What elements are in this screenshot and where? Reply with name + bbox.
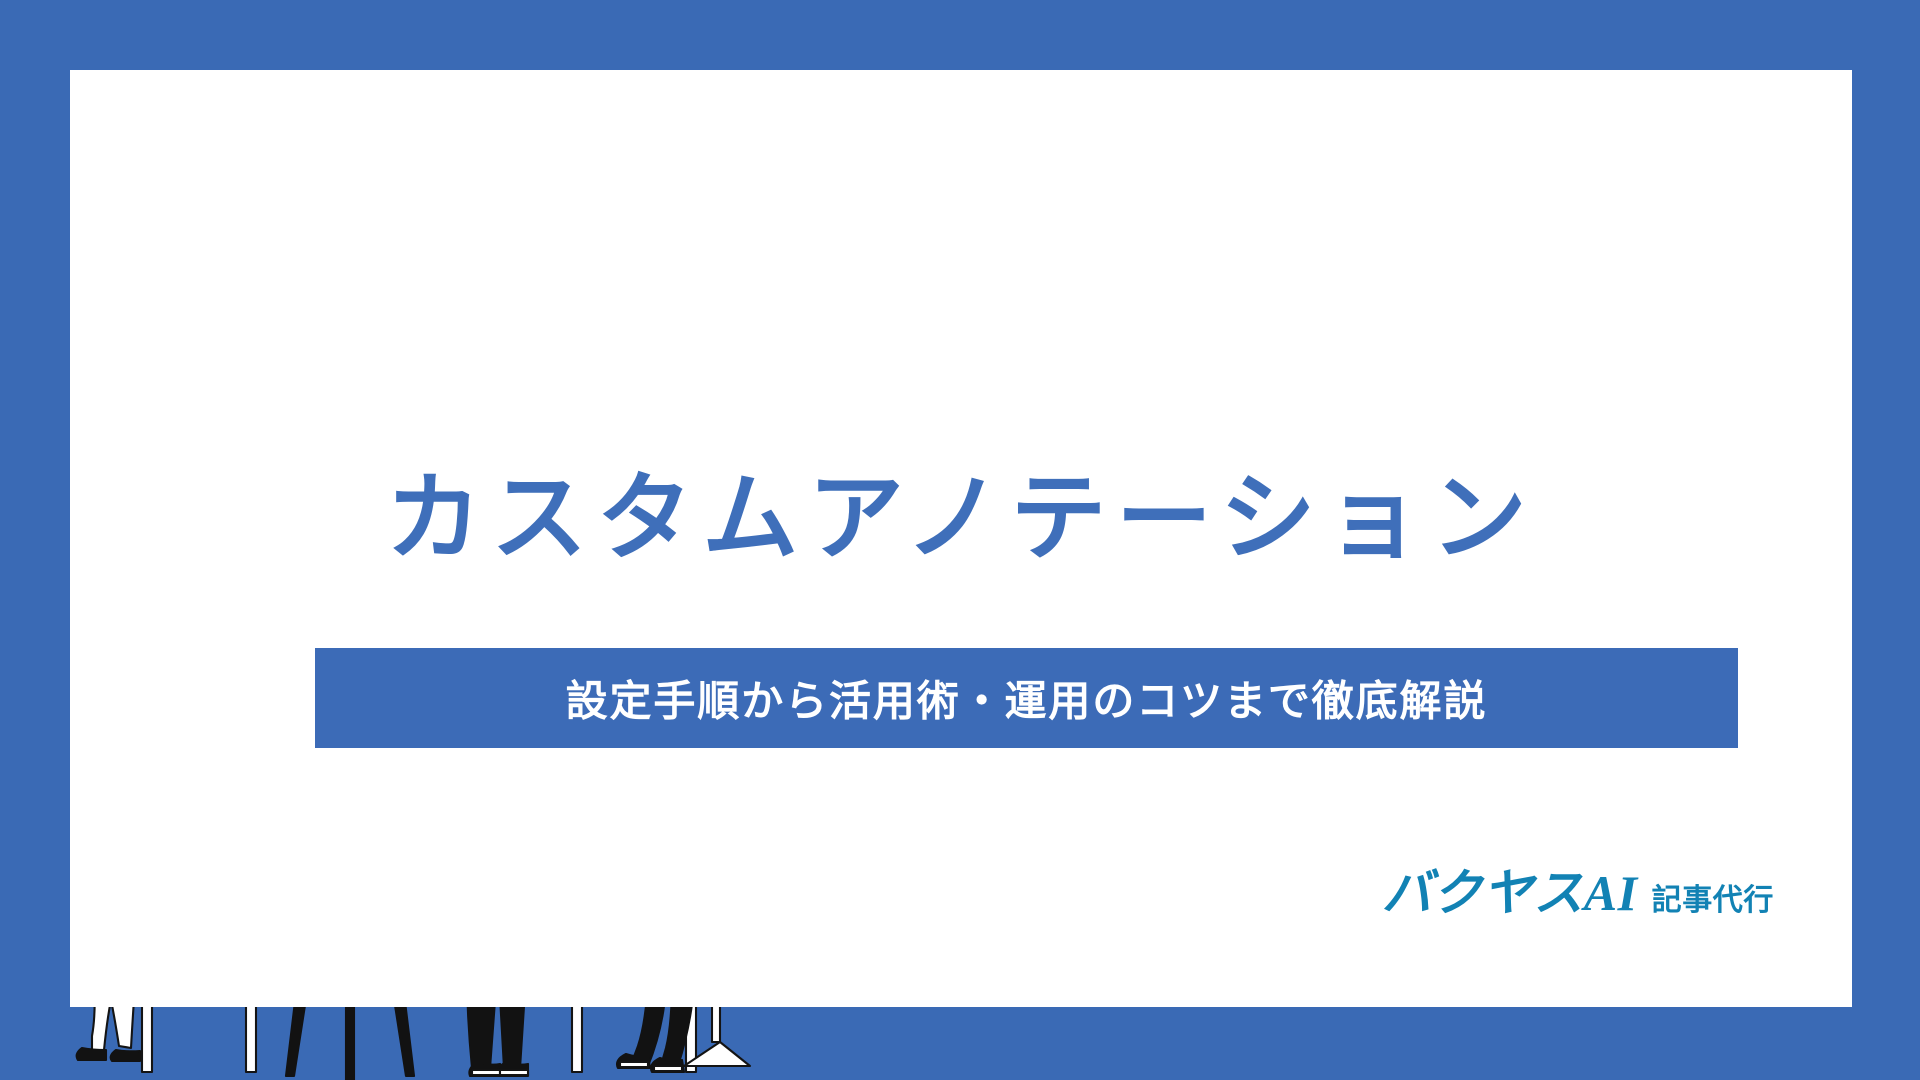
subtitle-text: 設定手順から活用術・運用のコツまで徹底解説 xyxy=(315,668,1738,729)
brand-logo-service: 記事代行 xyxy=(1652,875,1774,919)
brand-logo-name: バクヤスAI xyxy=(1382,853,1638,925)
slide-card: カスタムアノテーション 設定手順から活用術・運用のコツまで徹底解説 バクヤスAI… xyxy=(70,70,1852,1007)
slide-canvas: .ln { fill:none; stroke:#141414; stroke-… xyxy=(0,0,1920,1080)
page-title: カスタムアノテーション xyxy=(70,464,1852,574)
subtitle-band: 設定手順から活用術・運用のコツまで徹底解説 xyxy=(315,648,1738,748)
brand-logo: バクヤスAI 記事代行 xyxy=(1382,853,1774,925)
